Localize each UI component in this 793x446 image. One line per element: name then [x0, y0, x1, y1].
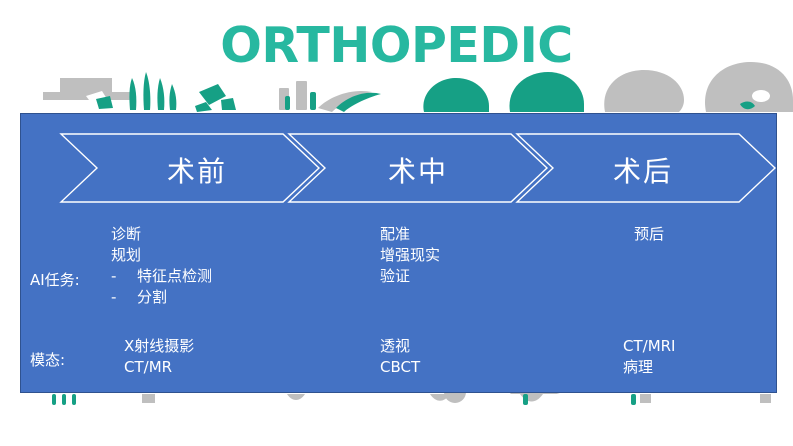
row-label-modality: 模态:: [30, 349, 65, 370]
phase-label-intraop[interactable]: 术中: [388, 150, 448, 190]
cell-modality-postop: CT/MRI 病理: [623, 336, 675, 378]
cell-line: CT/MR: [124, 357, 194, 378]
cell-modality-preop: X射线摄影 CT/MR: [124, 336, 194, 378]
page-title: ORTHOPEDIC: [0, 20, 793, 71]
cell-line-text: 特征点检测: [137, 267, 212, 285]
cell-line-bullet: -分割: [111, 287, 212, 308]
cell-line: X射线摄影: [124, 336, 194, 357]
cell-line: 诊断: [111, 224, 212, 245]
cell-line-bullet: -特征点检测: [111, 266, 212, 287]
cell-line-text: 分割: [137, 288, 167, 306]
bullet-dash: -: [111, 266, 137, 287]
phase-label-postop[interactable]: 术后: [613, 150, 673, 190]
cell-tasks-postop: 预后: [634, 224, 664, 245]
cell-line: 增强现实: [380, 245, 440, 266]
cell-line: 预后: [634, 224, 664, 245]
cell-line: CT/MRI: [623, 336, 675, 357]
bullet-dash: -: [111, 287, 137, 308]
cell-modality-intraop: 透视 CBCT: [380, 336, 420, 378]
phase-chevron-row: 术前 术中 术后: [21, 132, 778, 204]
cell-line: 病理: [623, 357, 675, 378]
cell-line: 配准: [380, 224, 440, 245]
process-panel: 术前 术中 术后 AI任务: 模态: 诊断 规划 -特征点检测 -分割 配准 增…: [20, 113, 777, 393]
cell-tasks-intraop: 配准 增强现实 验证: [380, 224, 440, 287]
cell-line: 透视: [380, 336, 420, 357]
phase-label-preop[interactable]: 术前: [167, 150, 227, 190]
cell-tasks-preop: 诊断 规划 -特征点检测 -分割: [111, 224, 212, 308]
cell-line: CBCT: [380, 357, 420, 378]
cell-line: 验证: [380, 266, 440, 287]
row-label-ai-tasks: AI任务:: [30, 269, 80, 290]
cell-line: 规划: [111, 245, 212, 266]
